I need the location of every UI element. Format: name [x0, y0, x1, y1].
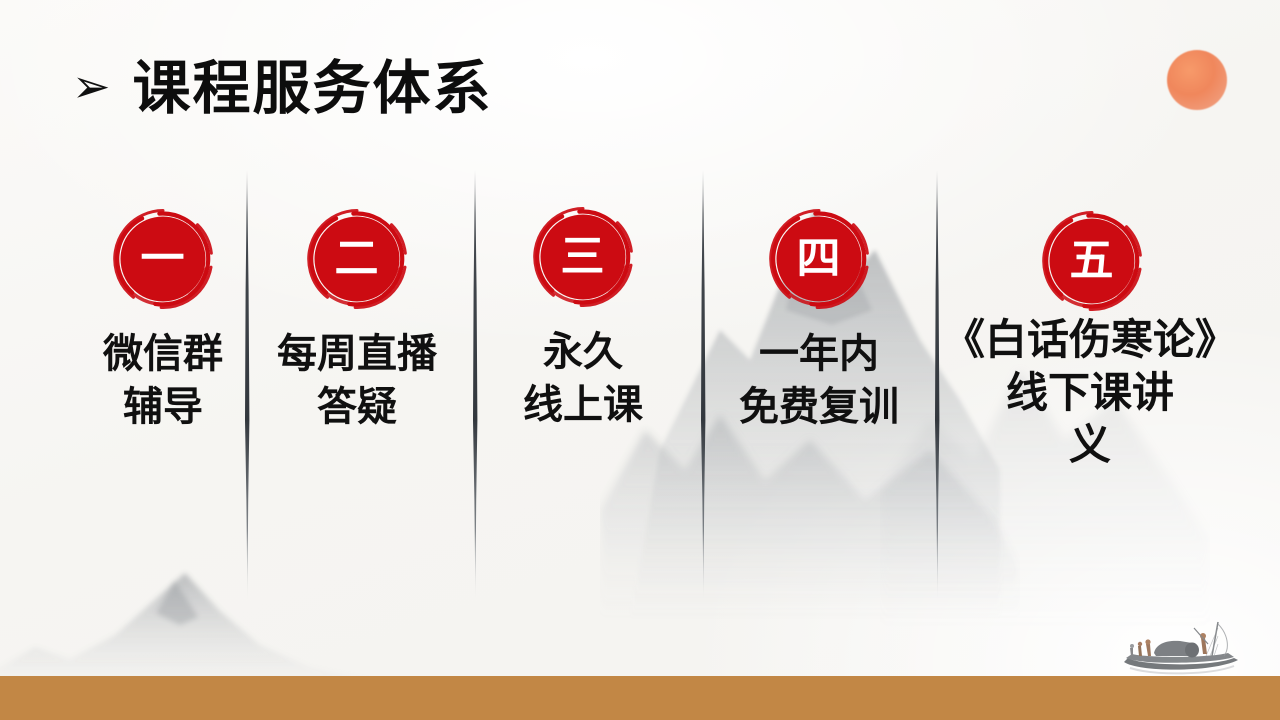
brush-circle-5: 五: [1033, 202, 1151, 320]
slide-canvas: ➢ 课程服务体系: [0, 0, 1280, 720]
service-column-1: 一 微信群 辅导: [82, 200, 244, 434]
circle-number-3: 三: [524, 198, 642, 316]
service-label-1: 微信群 辅导: [82, 328, 244, 434]
brush-circle-2: 二: [298, 200, 416, 318]
ink-boat-icon: [1108, 612, 1248, 684]
service-column-3: 三 永久 线上课: [500, 198, 666, 432]
brush-circle-4: 四: [760, 200, 878, 318]
page-title-text: 课程服务体系: [133, 59, 493, 117]
ink-mountain-left: [0, 555, 400, 685]
arrow-bullet-icon: ➢: [72, 63, 111, 109]
circle-number-2: 二: [298, 200, 416, 318]
brush-circle-1: 一: [104, 200, 222, 318]
service-label-3: 永久 线上课: [500, 326, 666, 432]
service-label-4: 一年内 免费复训: [736, 328, 902, 434]
service-label-2: 每周直播 答疑: [276, 328, 438, 434]
service-column-2: 二 每周直播 答疑: [276, 200, 438, 434]
circle-number-4: 四: [760, 200, 878, 318]
service-column-5: 五 《白话伤寒论》 线下课讲 义: [930, 202, 1250, 472]
brush-circle-3: 三: [524, 198, 642, 316]
service-column-4: 四 一年内 免费复训: [736, 200, 902, 434]
bottom-accent-bar: [0, 676, 1280, 720]
divider-3: [696, 170, 710, 600]
service-label-5: 《白话伤寒论》 线下课讲 义: [930, 314, 1250, 472]
circle-number-1: 一: [104, 200, 222, 318]
page-title: ➢ 课程服务体系: [72, 48, 493, 128]
circle-number-5: 五: [1033, 202, 1151, 320]
divider-2: [468, 170, 482, 600]
sun-icon: [1167, 50, 1227, 110]
